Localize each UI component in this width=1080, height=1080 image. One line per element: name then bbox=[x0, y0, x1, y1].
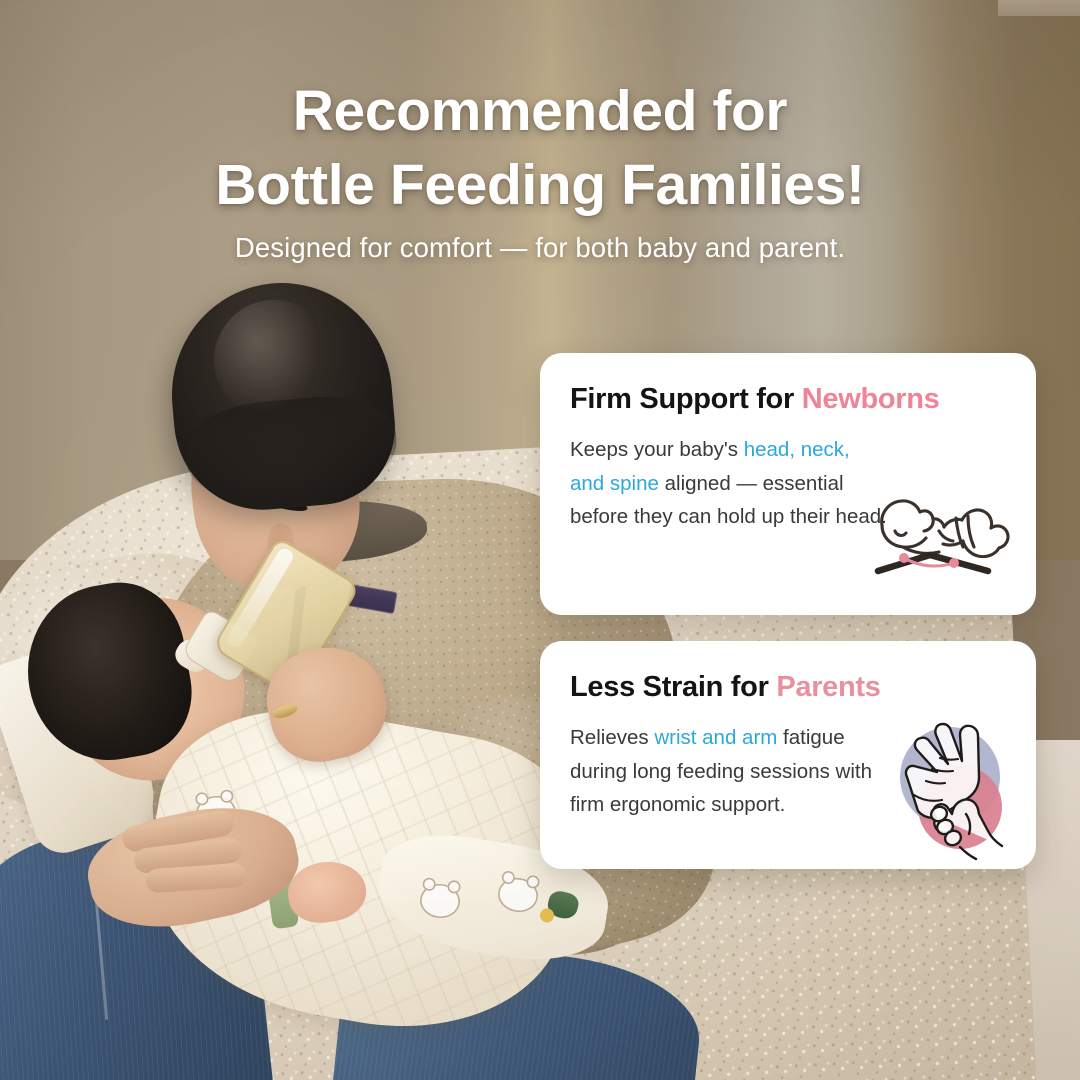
card-title: Firm Support for Newborns bbox=[570, 383, 1002, 415]
alignment-dot bbox=[949, 558, 959, 568]
card-body-part: Keeps your baby's bbox=[570, 438, 744, 461]
card-body: Relieves wrist and arm fatigue during lo… bbox=[570, 721, 888, 821]
promo-graphic: Recommended for Bottle Feeding Families!… bbox=[0, 0, 1080, 1080]
subheadline: Designed for comfort — for both baby and… bbox=[0, 232, 1080, 264]
headline-line-1: Recommended for bbox=[293, 79, 787, 143]
alignment-dot bbox=[899, 553, 909, 563]
card-title-accent: Parents bbox=[776, 671, 880, 703]
card-title-plain: Firm Support for bbox=[570, 383, 802, 415]
card-title-plain: Less Strain for bbox=[570, 671, 776, 703]
card-title-accent: Newborns bbox=[802, 383, 940, 415]
card-body: Keeps your baby's head, neck, and spine … bbox=[570, 433, 888, 533]
baby-aligned-spine-icon bbox=[870, 481, 1020, 587]
card-body-part: Relieves bbox=[570, 726, 654, 749]
card-title: Less Strain for Parents bbox=[570, 671, 1002, 703]
headline: Recommended for Bottle Feeding Families! bbox=[0, 74, 1080, 222]
card-body-highlight: wrist and arm bbox=[654, 726, 777, 749]
feature-card-firm-support: Firm Support for Newborns Keeps your bab… bbox=[540, 353, 1036, 615]
feature-card-less-strain: Less Strain for Parents Relieves wrist a… bbox=[540, 641, 1036, 869]
wrist-arm-relief-icon bbox=[874, 711, 1026, 861]
headline-line-2: Bottle Feeding Families! bbox=[0, 148, 1080, 222]
